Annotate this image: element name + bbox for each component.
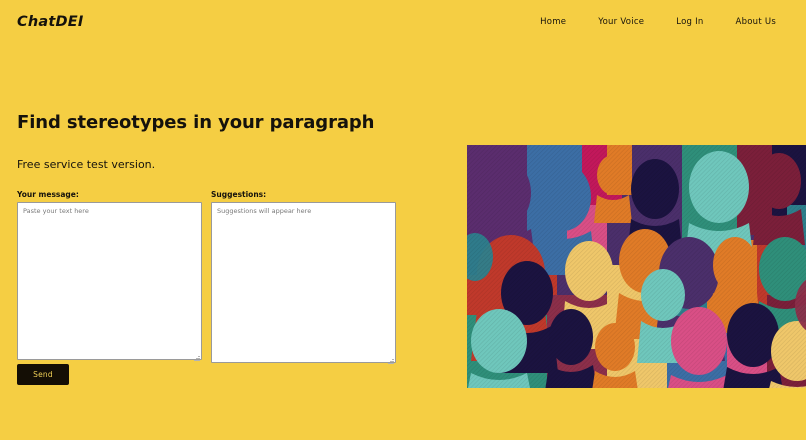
- send-button[interactable]: Send: [17, 364, 69, 385]
- nav-item-about-us[interactable]: About Us: [736, 17, 776, 27]
- hero-section: Find stereotypes in your paragraph Free …: [17, 112, 417, 171]
- message-textarea-wrapper: [17, 202, 202, 364]
- nav-item-home[interactable]: Home: [540, 17, 566, 27]
- page-title: Find stereotypes in your paragraph: [17, 112, 417, 134]
- message-label: Your message:: [17, 190, 202, 200]
- message-input[interactable]: [17, 202, 202, 360]
- main-navigation: Home Your Voice Log In About Us: [540, 17, 776, 27]
- site-header: ChatDEI Home Your Voice Log In About Us: [0, 0, 806, 44]
- brand-logo[interactable]: ChatDEI: [17, 14, 83, 30]
- diversity-artwork-svg: [467, 145, 806, 388]
- nav-item-log-in[interactable]: Log In: [676, 17, 703, 27]
- stereotype-form: Your message: Suggestions:: [17, 190, 395, 367]
- message-field-group: Your message:: [17, 190, 202, 367]
- suggestions-label: Suggestions:: [211, 190, 396, 200]
- suggestions-output[interactable]: [211, 202, 396, 363]
- page-subtitle: Free service test version.: [17, 134, 417, 171]
- nav-item-your-voice[interactable]: Your Voice: [598, 17, 644, 27]
- suggestions-textarea-wrapper: [211, 202, 396, 367]
- diversity-artwork: [467, 145, 806, 388]
- suggestions-field-group: Suggestions:: [211, 190, 396, 367]
